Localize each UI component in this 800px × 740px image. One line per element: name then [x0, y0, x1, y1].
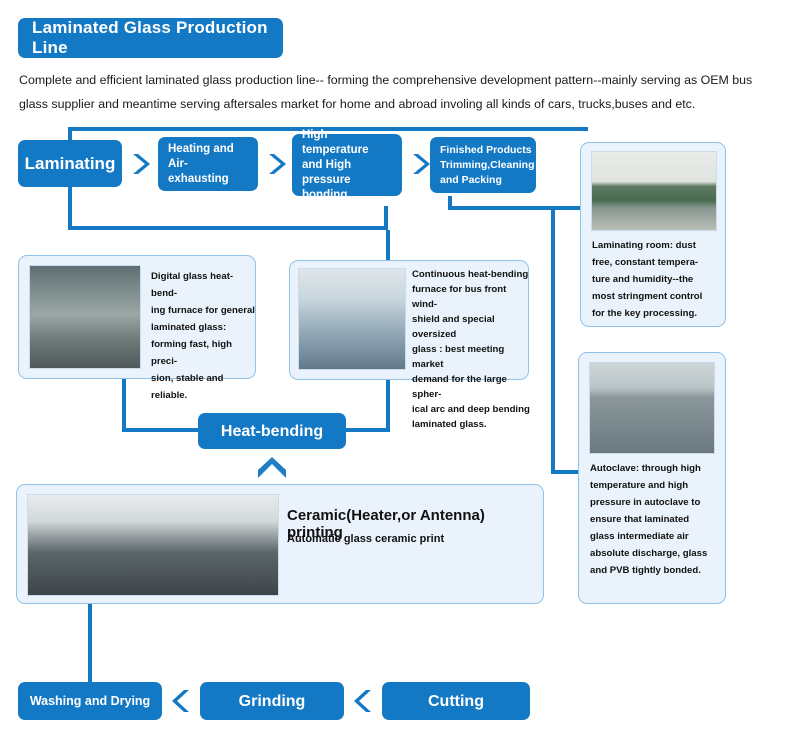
connector-right-to-autoclave [551, 470, 581, 474]
diagram-canvas: Laminated Glass Production Line Complete… [0, 0, 800, 740]
card-continuous-furnace: Continuous heat-bending furnace for bus … [289, 260, 529, 380]
process-heat-bending[interactable]: Heat-bending [198, 413, 346, 449]
card-autoclave: Autoclave: through high temperature and … [578, 352, 726, 604]
connector-left-loop-right-down [384, 206, 388, 230]
connector-right-vertical [551, 206, 555, 474]
process-washing-label: Washing and Drying [30, 694, 150, 709]
card-continuous-furnace-text: Continuous heat-bending furnace for bus … [412, 267, 530, 432]
connector-hightemp-right [448, 206, 584, 210]
process-laminating[interactable]: Laminating [18, 140, 122, 187]
process-grinding-label: Grinding [239, 694, 306, 709]
card-laminating-room-text: Laminating room: dust free, constant tem… [592, 237, 720, 322]
card-digital-furnace-text: Digital glass heat-bend- ing furnace for… [151, 268, 255, 404]
process-heating-label: Heating andAir-exhausting [168, 142, 248, 187]
connector-left-loop-horizontal [68, 226, 388, 230]
connector-ceramic-to-washing [88, 604, 92, 682]
card-ceramic-subtitle: Automatic glass ceramic print [287, 533, 444, 545]
process-laminating-label: Laminating [25, 156, 116, 171]
laminating-room-photo [591, 151, 717, 231]
chevron-right-icon-2 [264, 151, 290, 177]
card-digital-furnace: Digital glass heat-bend- ing furnace for… [18, 255, 256, 379]
process-grinding[interactable]: Grinding [200, 682, 344, 720]
connector-midcard-to-heatbending [344, 428, 390, 432]
process-heat-bending-label: Heat-bending [221, 424, 323, 439]
process-high-temp-label: High temperature and High pressure bondi… [302, 128, 392, 203]
intro-paragraph: Complete and efficient laminated glass p… [19, 68, 781, 116]
card-ceramic-printing: Ceramic(Heater,or Antenna) printing Auto… [16, 484, 544, 604]
page-title: Laminated Glass Production Line [18, 18, 283, 58]
ceramic-printing-photo [27, 494, 279, 596]
chevron-up-icon [255, 456, 289, 482]
connector-midcard-bottom-stub [386, 378, 390, 430]
connector-laminating-down [68, 186, 72, 230]
connector-leftcard-down [122, 378, 126, 432]
card-autoclave-text: Autoclave: through high temperature and … [590, 460, 722, 579]
process-finished-label: Finished Products Trimming,Cleaning and … [440, 143, 535, 188]
continuous-heat-bending-furnace-photo [298, 268, 406, 370]
chevron-left-icon-1 [170, 688, 194, 714]
process-finished-products[interactable]: Finished Products Trimming,Cleaning and … [430, 137, 536, 193]
process-heating-air-exhausting[interactable]: Heating andAir-exhausting [158, 137, 258, 191]
process-washing-and-drying[interactable]: Washing and Drying [18, 682, 162, 720]
connector-midcard-top-stub [386, 230, 390, 260]
process-cutting-label: Cutting [428, 694, 484, 709]
digital-heat-bending-furnace-photo [29, 265, 141, 369]
card-laminating-room: Laminating room: dust free, constant tem… [580, 142, 726, 327]
autoclave-photo [589, 362, 715, 454]
chevron-right-icon-1 [128, 151, 154, 177]
process-cutting[interactable]: Cutting [382, 682, 530, 720]
process-high-temperature-bonding[interactable]: High temperature and High pressure bondi… [292, 134, 402, 196]
chevron-left-icon-2 [352, 688, 376, 714]
